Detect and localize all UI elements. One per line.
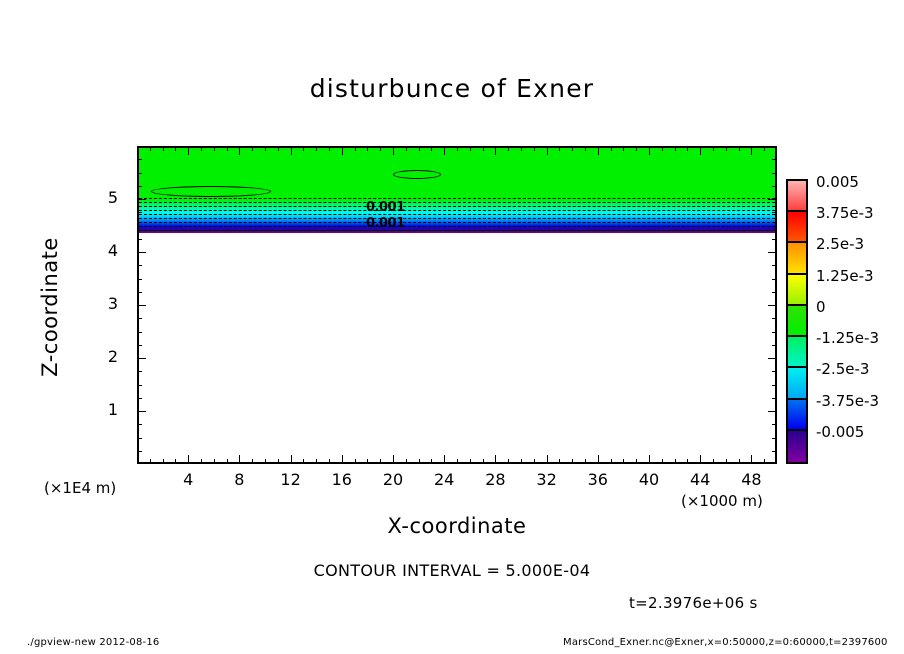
colorbar-tick-labels: 0.0053.75e-32.5e-31.25e-30-1.25e-3-2.5e-… (0, 0, 904, 654)
colorbar-tick-label: -2.5e-3 (816, 360, 869, 378)
colorbar-tick-label: -0.005 (816, 423, 864, 441)
footer-dataset-text: MarsCond_Exner.nc@Exner,x=0:50000,z=0:60… (563, 637, 888, 648)
y-axis-title: Z-coordinate (38, 197, 62, 417)
footer-command-text: ./gpview-new 2012-08-16 (27, 637, 159, 648)
contour-interval-text: CONTOUR INTERVAL = 5.000E-04 (0, 561, 904, 580)
x-axis-title: X-coordinate (137, 514, 777, 538)
colorbar-tick-label: -1.25e-3 (816, 329, 879, 347)
x-axis-unit: (×1000 m) (681, 492, 763, 510)
colorbar-tick-label: 2.5e-3 (816, 235, 864, 253)
colorbar-tick-label: 1.25e-3 (816, 267, 874, 285)
colorbar-tick-label: -3.75e-3 (816, 392, 879, 410)
colorbar-tick-label: 0 (816, 298, 826, 316)
colorbar-tick-label: 0.005 (816, 173, 859, 191)
y-axis-unit: (×1E4 m) (44, 479, 116, 497)
time-stamp-text: t=2.3976e+06 s (629, 594, 758, 612)
figure-canvas: disturbunce of Exner 0.001 0.001 481 (0, 0, 904, 654)
colorbar-tick-label: 3.75e-3 (816, 204, 874, 222)
